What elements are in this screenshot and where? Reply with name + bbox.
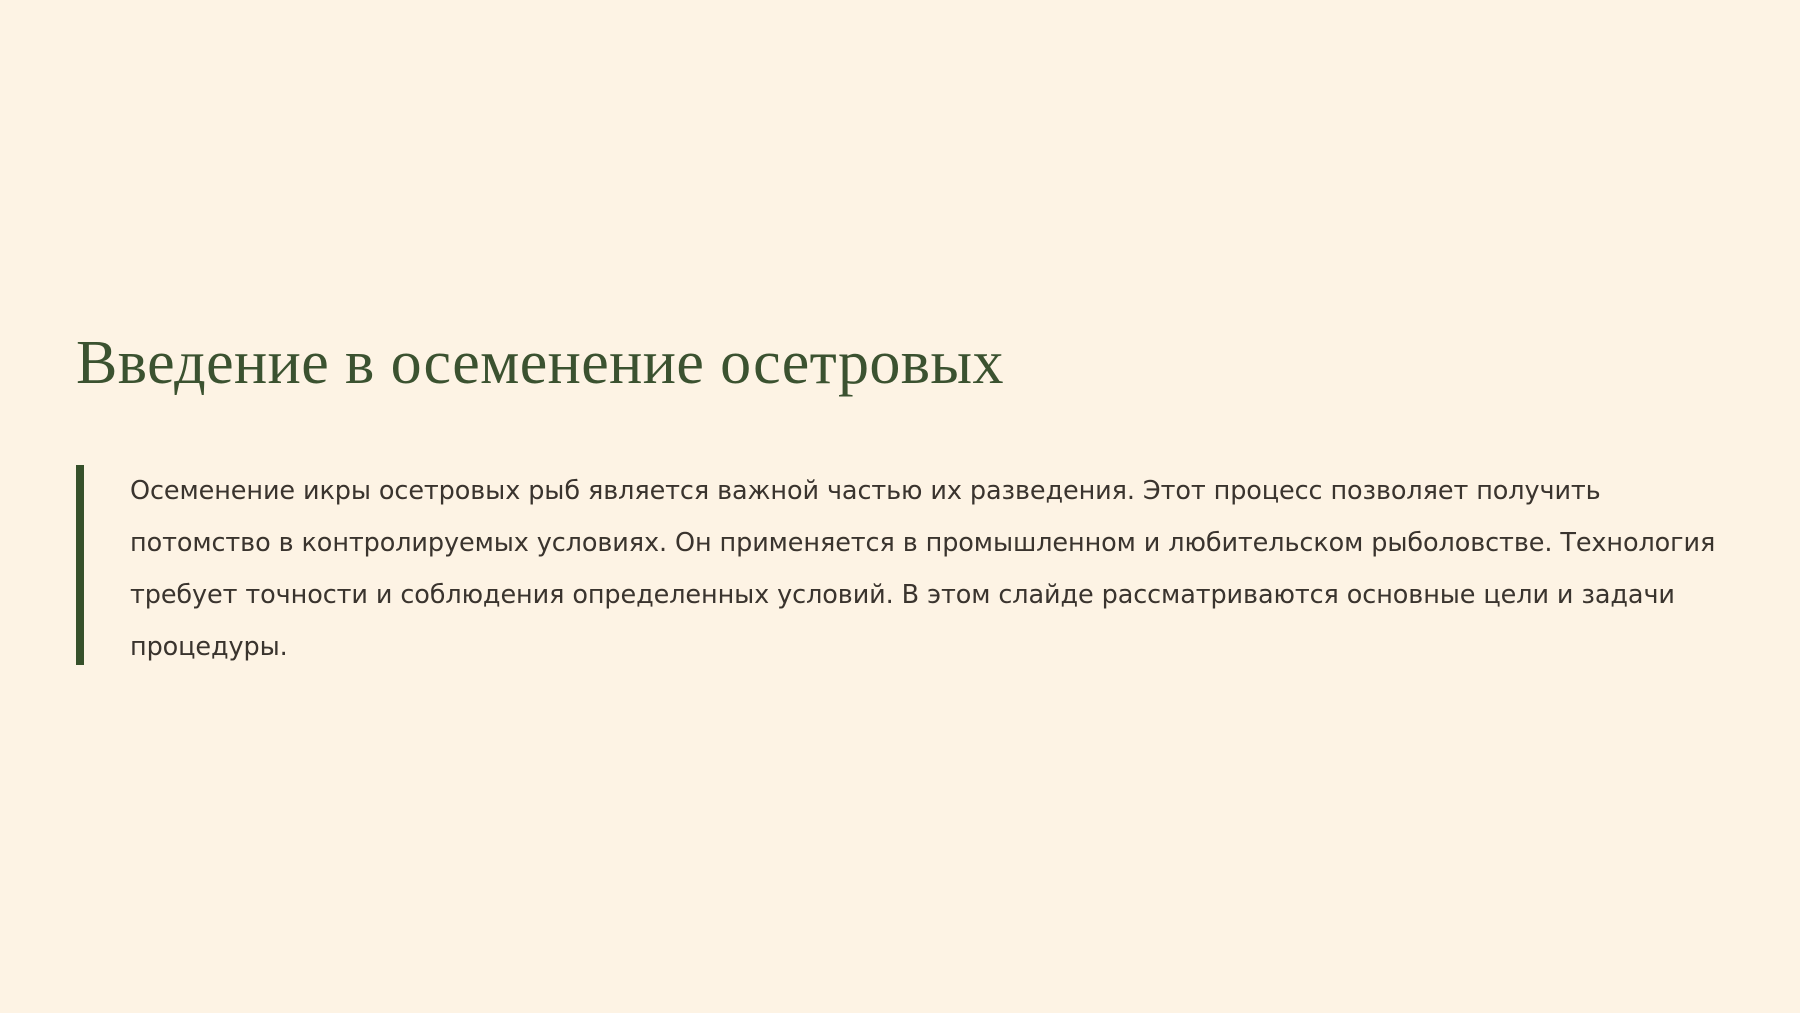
slide-content: Введение в осеменение осетровых Осеменен… — [76, 330, 1736, 673]
page-title: Введение в осеменение осетровых — [76, 330, 1736, 397]
body-block: Осеменение икры осетровых рыб является в… — [76, 465, 1736, 673]
slide-canvas: Введение в осеменение осетровых Осеменен… — [0, 0, 1800, 1013]
body-paragraph: Осеменение икры осетровых рыб является в… — [130, 465, 1735, 673]
accent-bar — [76, 465, 84, 665]
